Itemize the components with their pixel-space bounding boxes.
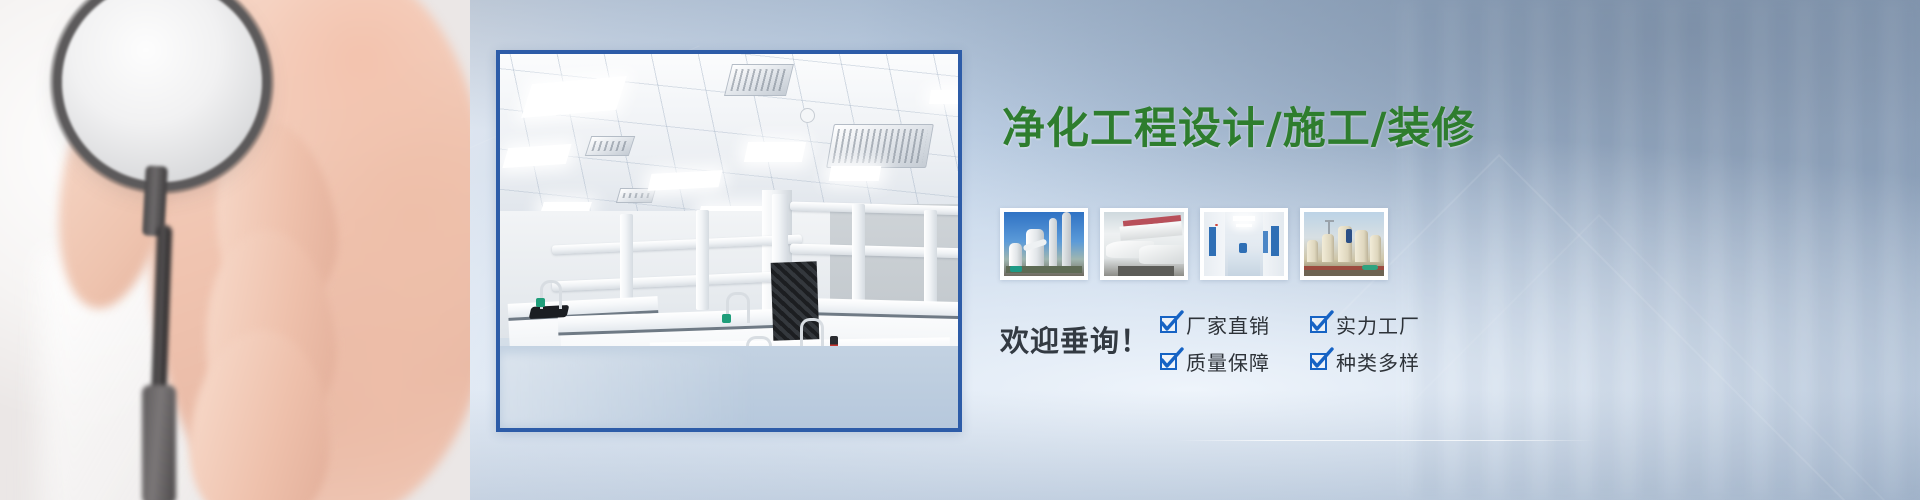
stethoscope-grip (142, 385, 176, 500)
checkbox-checked-icon (1310, 316, 1327, 333)
shelf-post (852, 204, 865, 314)
ceiling-light (829, 166, 882, 181)
thumbnail-item[interactable] (1200, 208, 1288, 280)
page-title: 净化工程设计/施工/装修 (1002, 108, 1475, 151)
feature-label: 实力工厂 (1336, 310, 1420, 339)
smoke-detector (800, 108, 815, 123)
feature-label: 种类多样 (1336, 347, 1420, 376)
thumbnail-image-ducting-units (1104, 212, 1184, 276)
thumbnail-item[interactable] (1100, 208, 1188, 280)
main-photo-frame[interactable] (496, 50, 962, 432)
thumbnail-item[interactable] (1300, 208, 1388, 280)
checkbox-checked-icon (1160, 353, 1177, 370)
thumbnail-item[interactable] (1000, 208, 1088, 280)
gas-tap (722, 314, 731, 323)
shelf-post (924, 210, 937, 310)
checkbox-checked-icon (1160, 316, 1177, 333)
feature-label: 质量保障 (1186, 347, 1270, 376)
feature-item[interactable]: 种类多样 (1310, 347, 1420, 376)
stethoscope-photo (0, 0, 470, 500)
ceiling-light (929, 90, 962, 104)
thumbnail-strip (1000, 208, 1388, 280)
feature-list: 厂家直销 实力工厂 质量保障 (1160, 310, 1420, 376)
laboratory-photo (500, 54, 958, 428)
thumbnail-image-cleanroom-corridor (1204, 212, 1284, 276)
gas-tap (536, 298, 545, 307)
floor-reflection (500, 353, 756, 428)
ceiling-light (744, 142, 806, 162)
feature-item[interactable]: 质量保障 (1160, 347, 1270, 376)
thumbnail-image-scrubber-towers (1004, 212, 1084, 276)
ceiling-vent (585, 136, 635, 156)
welcome-text: 欢迎垂询！ (1000, 318, 1150, 360)
shelf-post (696, 210, 709, 310)
ceiling-vent (724, 64, 794, 96)
thumbnail-image-purification-tanks (1304, 212, 1384, 276)
promotional-banner: 净化工程设计/施工/装修 (0, 0, 1920, 500)
feature-item[interactable]: 实力工厂 (1310, 310, 1420, 339)
feature-label: 厂家直销 (1186, 310, 1270, 339)
ceiling-ac-unit (826, 124, 934, 168)
checkbox-checked-icon (1310, 353, 1327, 370)
feature-item[interactable]: 厂家直销 (1160, 310, 1270, 339)
horizontal-divider (1175, 440, 1595, 441)
